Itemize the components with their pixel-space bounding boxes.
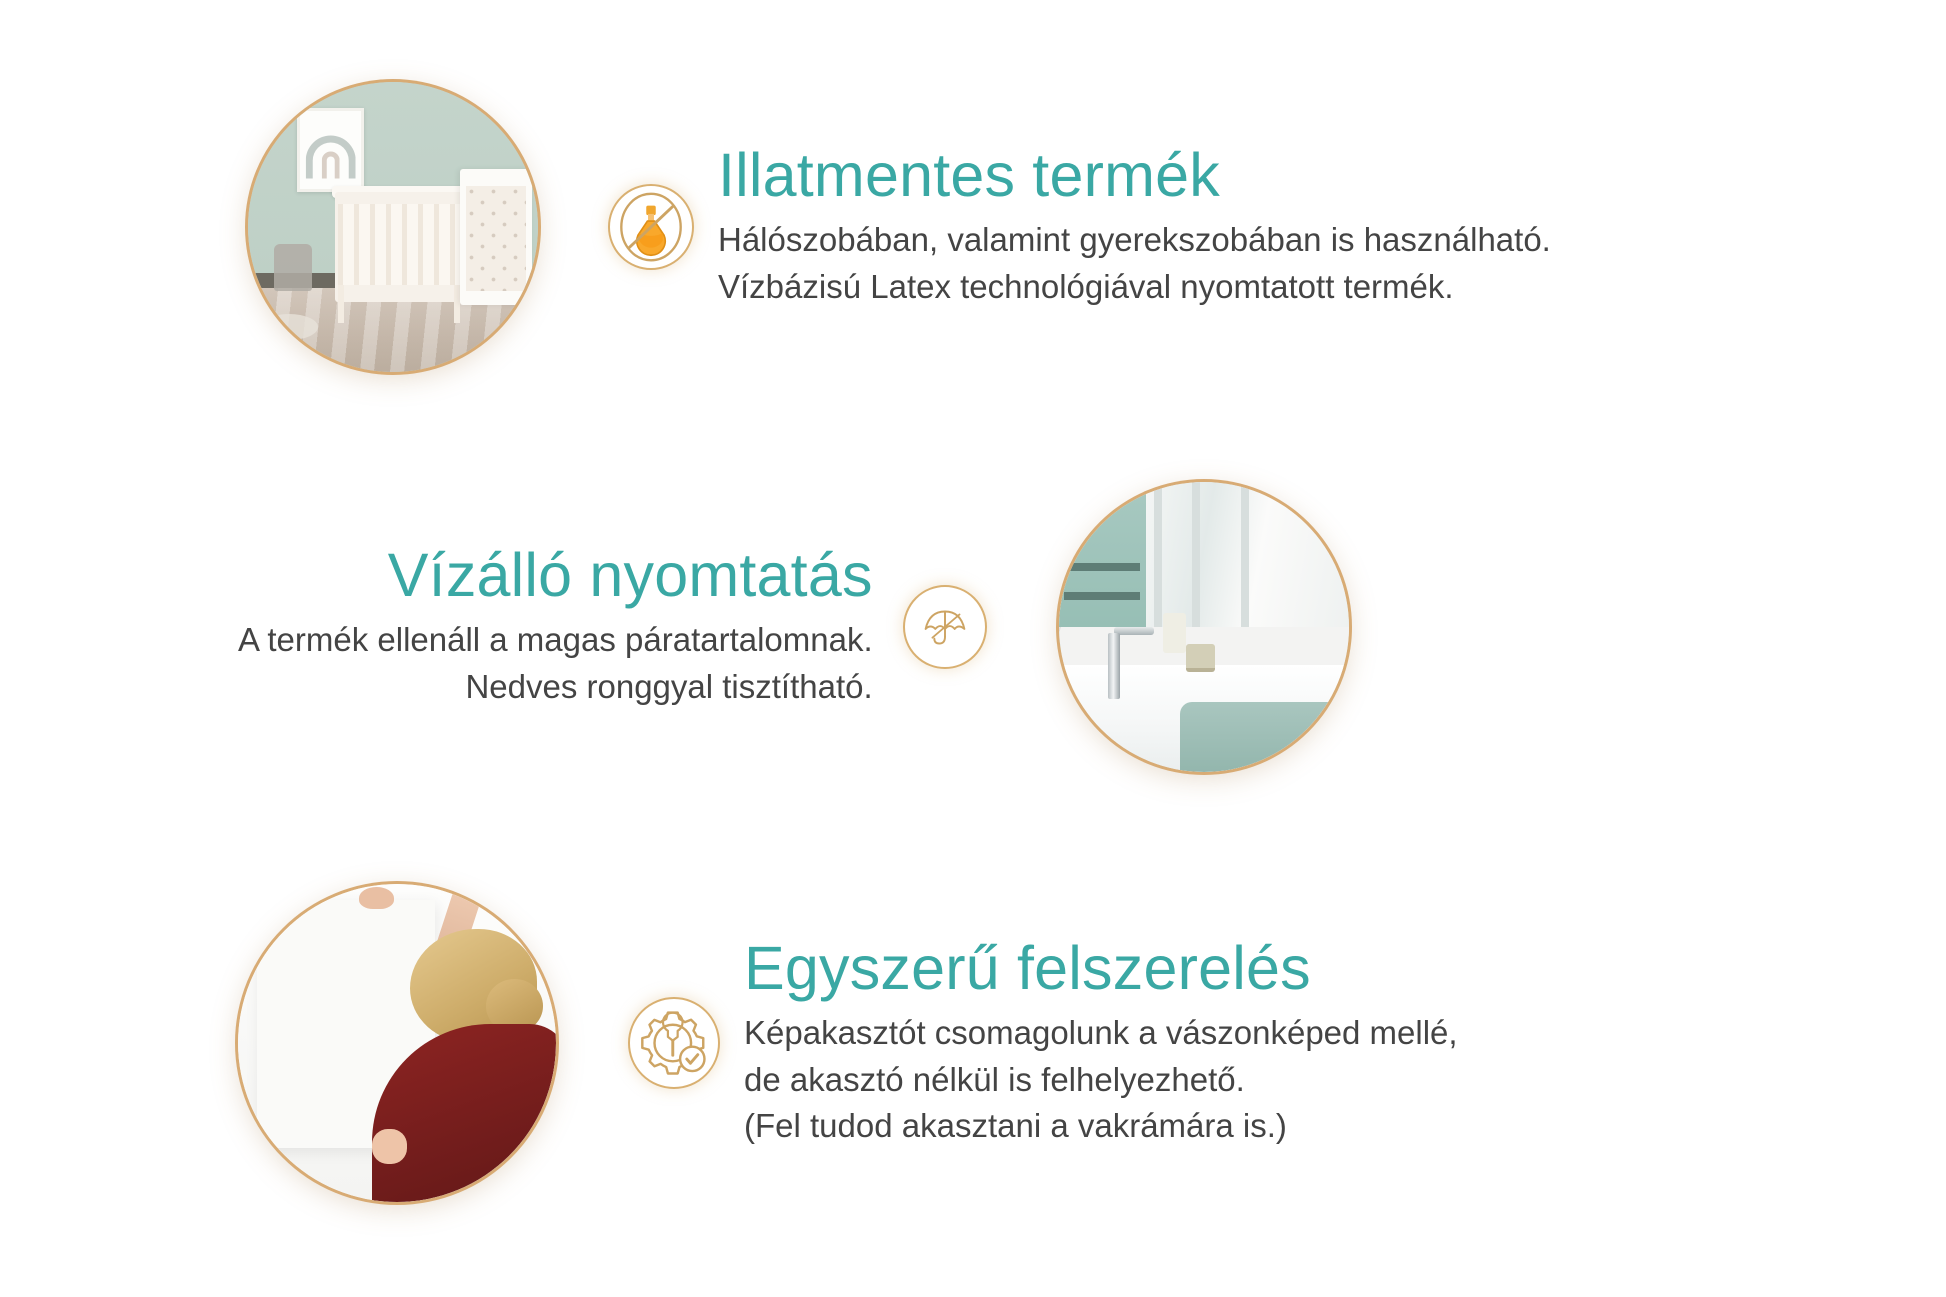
description-line: Hálószobában, valamint gyerekszobában is… xyxy=(718,217,1551,264)
bathroom-vanity xyxy=(1180,702,1348,772)
gear-wrench-check-icon xyxy=(628,997,720,1089)
feature-title-waterproof-print: Vízálló nyomtatás xyxy=(238,543,873,607)
description-line: A termék ellenáll a magas páratartalomna… xyxy=(238,617,873,664)
feature-row-fragrance-free: Illatmentes termék Hálószobában, valamin… xyxy=(248,82,1551,372)
feature-title-fragrance-free: Illatmentes termék xyxy=(718,143,1551,207)
feature-row-easy-mounting: Egyszerű felszerelés Képakasztót csomago… xyxy=(238,884,1458,1202)
feature-description-fragrance-free: Hálószobában, valamint gyerekszobában is… xyxy=(718,217,1551,311)
rainbow-graphic xyxy=(305,135,356,178)
feature-description-waterproof-print: A termék ellenáll a magas páratartalomna… xyxy=(238,617,873,711)
feature-title-easy-mounting: Egyszerű felszerelés xyxy=(744,936,1458,1000)
bathroom-photo xyxy=(1059,482,1349,772)
umbrella-icon xyxy=(903,585,987,669)
easy-mounting-text-block: Egyszerű felszerelés Képakasztót csomago… xyxy=(744,936,1458,1151)
hand-lower xyxy=(372,1129,407,1164)
no-fragrance-bottle-icon xyxy=(608,184,694,270)
description-line: (Fel tudod akasztani a vakrámára is.) xyxy=(744,1103,1458,1150)
waterproof-print-text-block: Vízálló nyomtatás A termék ellenáll a ma… xyxy=(238,543,873,711)
hand-upper xyxy=(359,887,394,909)
description-line: Nedves ronggyal tisztítható. xyxy=(238,664,873,711)
crib-leg-left xyxy=(338,285,344,323)
bathroom-shelf xyxy=(1064,563,1139,571)
bathroom-bottle xyxy=(1163,613,1186,654)
bathroom-jar xyxy=(1186,644,1215,671)
feature-row-waterproof-print: Vízálló nyomtatás A termék ellenáll a ma… xyxy=(238,482,1349,772)
rainbow-art-frame xyxy=(297,108,364,192)
faucet-column xyxy=(1108,633,1120,700)
faucet-spout xyxy=(1114,627,1155,635)
hanging-canvas-photo xyxy=(238,884,556,1202)
bathroom-shelf xyxy=(1064,592,1139,600)
description-line: Vízbázisú Latex technológiával nyomtatot… xyxy=(718,264,1551,311)
bathroom-photo-inner xyxy=(1059,482,1349,772)
mirror-divider xyxy=(1241,482,1249,636)
nursery-rug xyxy=(260,314,318,340)
description-line: Képakasztót csomagolunk a vászonképed me… xyxy=(744,1010,1458,1057)
nursery-toy xyxy=(274,244,312,290)
description-line: de akasztó nélkül is felhelyezhető. xyxy=(744,1057,1458,1104)
hanging-canvas-photo-inner xyxy=(238,884,556,1202)
mirror-divider xyxy=(1192,482,1200,636)
feature-description-easy-mounting: Képakasztót csomagolunk a vászonképed me… xyxy=(744,1010,1458,1151)
crib-headboard-tufting xyxy=(466,186,527,290)
crib-slats xyxy=(338,204,469,285)
nursery-photo xyxy=(248,82,538,372)
fragrance-free-text-block: Illatmentes termék Hálószobában, valamin… xyxy=(718,143,1551,311)
mirror-divider xyxy=(1154,482,1162,636)
nursery-photo-inner xyxy=(248,82,538,372)
feature-infographic: Illatmentes termék Hálószobában, valamin… xyxy=(0,0,1946,1297)
